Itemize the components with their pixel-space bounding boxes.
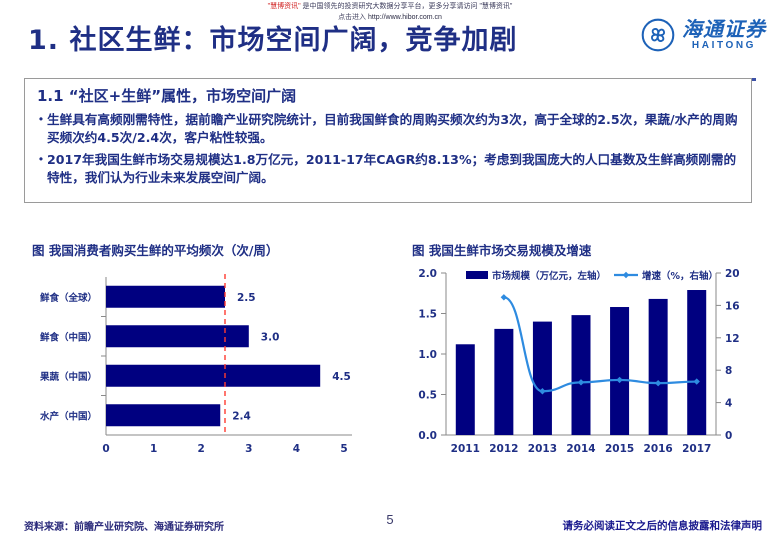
- x-axis-tick-label: 4: [293, 443, 300, 455]
- chart-canvas-right: 0.00.51.01.52.00481216202011201220132014…: [404, 263, 764, 478]
- x-axis-tick-label: 0: [102, 443, 109, 455]
- y-axis-left-tick-label: 1.5: [418, 309, 437, 321]
- watermark-enter-label: 点击进入: [338, 14, 366, 21]
- line-marker: [501, 294, 507, 300]
- y-axis-right-tick-label: 0: [725, 430, 732, 442]
- legend-swatch-bar: [466, 271, 488, 279]
- chart-legend: 市场规模（万亿元，左轴）增速（%，右轴）: [466, 270, 718, 282]
- x-axis-tick-label: 2012: [489, 443, 518, 455]
- y-axis-right-tick-label: 20: [725, 268, 740, 280]
- company-logo: 海通证券 HAITONG: [641, 18, 766, 52]
- bullet-list: • 生鲜具有高频刚需特性，据前瞻产业研究院统计，目前我国鲜食的周购买频次约为3次…: [35, 111, 741, 191]
- y-axis-left-tick-label: 0.0: [418, 430, 437, 442]
- x-axis-tick-label: 2011: [451, 443, 480, 455]
- watermark-line1-rest: 是中国领先的投资研究大数据分享平台，更多分享请访问 "慧博资讯": [301, 3, 513, 10]
- bar: [456, 344, 475, 435]
- y-axis-right-tick-label: 12: [725, 333, 740, 345]
- bar: [572, 315, 591, 435]
- chart-canvas-left: 鲜食（全球）2.5鲜食（中国）3.0果蔬（中国）4.5水产（中国）2.40123…: [24, 263, 396, 478]
- y-axis-left-tick-label: 2.0: [418, 268, 437, 280]
- x-axis-tick-label: 2: [198, 443, 205, 455]
- page-title: 1. 社区生鲜：市场空间广阔，竞争加剧: [28, 18, 517, 57]
- x-axis-tick-label: 2016: [644, 443, 673, 455]
- bullet-icon: •: [35, 151, 47, 168]
- bar: [106, 325, 249, 347]
- bar-category-label: 果蔬（中国）: [39, 371, 97, 383]
- watermark-url[interactable]: http://www.hibor.com.cn: [368, 14, 442, 21]
- x-axis-tick-label: 2014: [566, 443, 595, 455]
- chart-market-size: 图 我国生鲜市场交易规模及增速 0.00.51.01.52.0048121620…: [404, 240, 764, 480]
- bar: [494, 329, 513, 435]
- legend-label-line: 增速（%，右轴）: [642, 270, 718, 282]
- legend-label-bar: 市场规模（万亿元，左轴）: [492, 270, 606, 282]
- bullet-icon: •: [35, 111, 47, 128]
- x-axis-tick-label: 2017: [682, 443, 711, 455]
- bar: [106, 404, 220, 426]
- legend-marker-line: [623, 272, 629, 278]
- x-axis-tick-label: 3: [245, 443, 252, 455]
- y-axis-left-tick-label: 1.0: [418, 349, 437, 361]
- bar-value-label: 4.5: [332, 371, 351, 383]
- watermark-banner: "慧博资讯" 是中国领先的投资研究大数据分享平台，更多分享请访问 "慧博资讯" …: [0, 0, 780, 23]
- bar-category-label: 水产（中国）: [40, 410, 97, 422]
- logo-english-name: HAITONG: [692, 41, 756, 51]
- bar: [106, 286, 225, 308]
- x-axis-tick-label: 2013: [528, 443, 557, 455]
- x-axis-tick-label: 5: [340, 443, 347, 455]
- x-axis-tick-label: 1: [150, 443, 157, 455]
- watermark-line2: 点击进入 http://www.hibor.com.cn: [0, 13, 780, 23]
- logo-wordmark: 海通证券 HAITONG: [682, 19, 766, 51]
- bar-value-label: 3.0: [261, 331, 280, 343]
- bar: [106, 365, 320, 387]
- content-panel: 1.1 “社区+生鲜”属性，市场空间广阔 • 生鲜具有高频刚需特性，据前瞻产业研…: [24, 78, 752, 203]
- bar: [533, 322, 552, 435]
- bullet-text: 2017年我国生鲜市场交易规模达1.8万亿元，2011-17年CAGR约8.13…: [47, 151, 741, 186]
- list-item: • 2017年我国生鲜市场交易规模达1.8万亿元，2011-17年CAGR约8.…: [35, 151, 741, 186]
- bar-value-label: 2.4: [232, 410, 251, 422]
- bar-value-label: 2.5: [237, 292, 256, 304]
- watermark-brand: "慧博资讯": [268, 3, 301, 10]
- bar-category-label: 鲜食（中国）: [40, 331, 97, 343]
- y-axis-right-tick-label: 8: [725, 365, 732, 377]
- bar: [610, 307, 629, 435]
- chart-title-right: 图 我国生鲜市场交易规模及增速: [412, 240, 764, 259]
- bar: [649, 299, 668, 435]
- line-series: [504, 297, 697, 391]
- bar-category-label: 鲜食（全球）: [40, 292, 97, 304]
- chart-title-left: 图 我国消费者购买生鲜的平均频次（次/周）: [32, 240, 396, 259]
- haitong-emblem-icon: [641, 18, 675, 52]
- x-axis-tick-label: 2015: [605, 443, 634, 455]
- bullet-text: 生鲜具有高频刚需特性，据前瞻产业研究院统计，目前我国鲜食的周购买频次约为3次，高…: [47, 111, 741, 146]
- y-axis-right-tick-label: 4: [725, 398, 732, 410]
- list-item: • 生鲜具有高频刚需特性，据前瞻产业研究院统计，目前我国鲜食的周购买频次约为3次…: [35, 111, 741, 146]
- y-axis-left-tick-label: 0.5: [418, 390, 437, 402]
- bar: [687, 290, 706, 435]
- disclaimer-note: 请务必阅读正文之后的信息披露和法律声明: [563, 518, 763, 533]
- chart-purchase-frequency: 图 我国消费者购买生鲜的平均频次（次/周） 鲜食（全球）2.5鲜食（中国）3.0…: [24, 240, 396, 480]
- section-subheading: 1.1 “社区+生鲜”属性，市场空间广阔: [37, 85, 296, 106]
- y-axis-right-tick-label: 16: [725, 300, 740, 312]
